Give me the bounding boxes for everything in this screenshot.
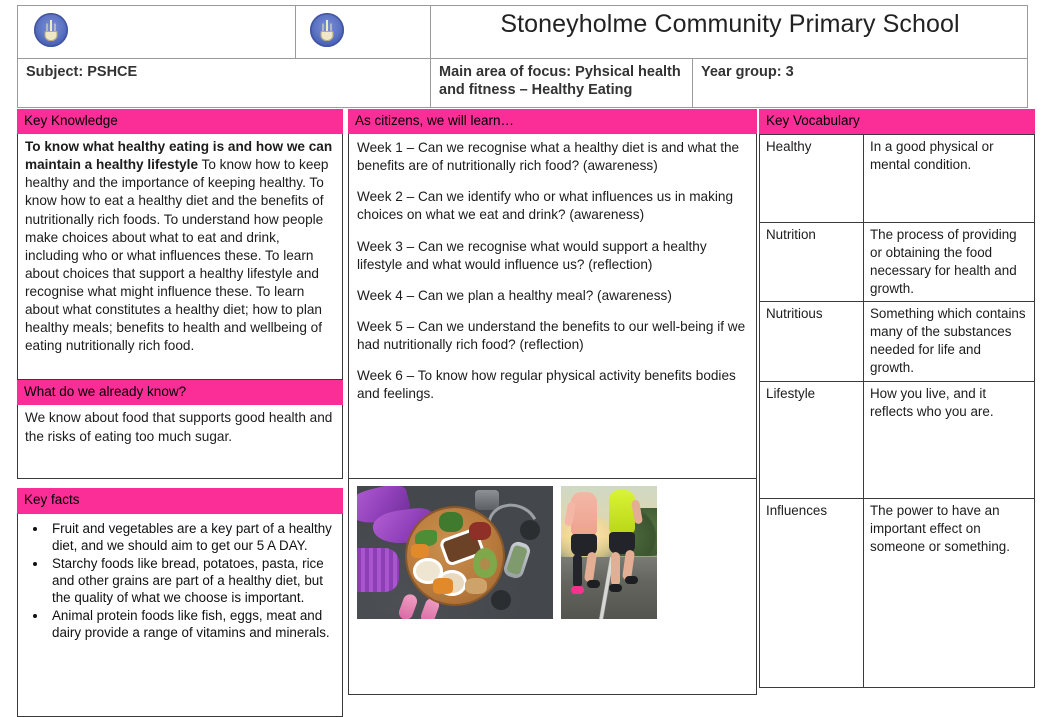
key-vocabulary-heading: Key Vocabulary	[759, 109, 1035, 134]
vocab-term: Nutrition	[760, 223, 864, 302]
main-focus-cell: Main area of focus: Pyhsical health and …	[431, 59, 693, 108]
runners-on-road-photo	[561, 486, 657, 619]
table-row: Influences The power to have an importan…	[760, 499, 1035, 688]
healthy-food-flatlay-photo	[357, 486, 553, 619]
knowledge-organiser-page: Stoneyholme Community Primary School Sub…	[0, 0, 1043, 671]
table-row: Lifestyle How you live, and it reflects …	[760, 382, 1035, 499]
photo-row	[357, 486, 756, 619]
table-row: Nutrition The process of providing or ob…	[760, 223, 1035, 302]
school-crest-icon	[34, 13, 68, 47]
citizens-heading: As citizens, we will learn…	[348, 109, 757, 134]
table-row: Healthy In a good physical or mental con…	[760, 135, 1035, 223]
document-header-table: Stoneyholme Community Primary School Sub…	[17, 5, 1028, 108]
key-knowledge-body: To know how to keep healthy and the impo…	[25, 157, 329, 353]
key-knowledge-box: To know what healthy eating is and how w…	[17, 134, 343, 380]
key-facts-box: Fruit and vegetables are a key part of a…	[17, 514, 343, 717]
key-facts-list: Fruit and vegetables are a key part of a…	[22, 520, 335, 642]
header-meta-row: Subject: PSHCE Main area of focus: Pyhsi…	[18, 59, 1028, 108]
key-knowledge-heading: Key Knowledge	[17, 109, 343, 134]
left-column-spacer	[17, 479, 343, 488]
vocab-term: Nutritious	[760, 302, 864, 382]
already-know-heading: What do we already know?	[17, 380, 343, 405]
food-plate-shape	[407, 508, 503, 604]
images-box	[348, 479, 757, 695]
organiser-body: Key Knowledge To know what healthy eatin…	[0, 109, 1043, 671]
list-item: Starchy foods like bread, potatoes, past…	[48, 555, 335, 607]
vocab-term: Influences	[760, 499, 864, 688]
vocab-definition: Something which contains many of the sub…	[864, 302, 1035, 382]
weekly-questions-box: Week 1 – Can we recognise what a healthy…	[348, 134, 757, 479]
key-facts-heading: Key facts	[17, 488, 343, 513]
subject-cell: Subject: PSHCE	[18, 59, 431, 108]
week-item: Week 3 – Can we recognise what would sup…	[357, 238, 748, 274]
header-title-row: Stoneyholme Community Primary School	[18, 6, 1028, 59]
vocab-definition: The process of providing or obtaining th…	[864, 223, 1035, 302]
yoga-mat-shape	[357, 548, 399, 592]
week-item: Week 4 – Can we plan a healthy meal? (aw…	[357, 287, 748, 305]
week-item: Week 1 – Can we recognise what a healthy…	[357, 139, 748, 175]
vocab-term: Healthy	[760, 135, 864, 223]
vocab-definition: How you live, and it reflects who you ar…	[864, 382, 1035, 499]
week-item: Week 2 – Can we identify who or what inf…	[357, 188, 748, 224]
logo-cell-middle	[296, 6, 431, 59]
already-know-box: We know about food that supports good he…	[17, 405, 343, 479]
school-crest-icon	[310, 13, 344, 47]
week-item: Week 5 – Can we understand the benefits …	[357, 318, 748, 354]
list-item: Animal protein foods like fish, eggs, me…	[48, 607, 335, 642]
left-column: Key Knowledge To know what healthy eatin…	[17, 109, 343, 717]
week-item: Week 6 – To know how regular physical ac…	[357, 367, 748, 403]
vocab-definition: The power to have an important effect on…	[864, 499, 1035, 688]
list-item: Fruit and vegetables are a key part of a…	[48, 520, 335, 555]
vocab-definition: In a good physical or mental condition.	[864, 135, 1035, 223]
table-row: Nutritious Something which contains many…	[760, 302, 1035, 382]
school-title: Stoneyholme Community Primary School	[431, 6, 1028, 59]
year-group-cell: Year group: 3	[693, 59, 1028, 108]
right-column: Key Vocabulary Healthy In a good physica…	[759, 109, 1035, 688]
key-vocabulary-table: Healthy In a good physical or mental con…	[759, 134, 1035, 688]
logo-cell-left	[18, 6, 296, 59]
vocab-term: Lifestyle	[760, 382, 864, 499]
middle-column: As citizens, we will learn… Week 1 – Can…	[348, 109, 757, 695]
